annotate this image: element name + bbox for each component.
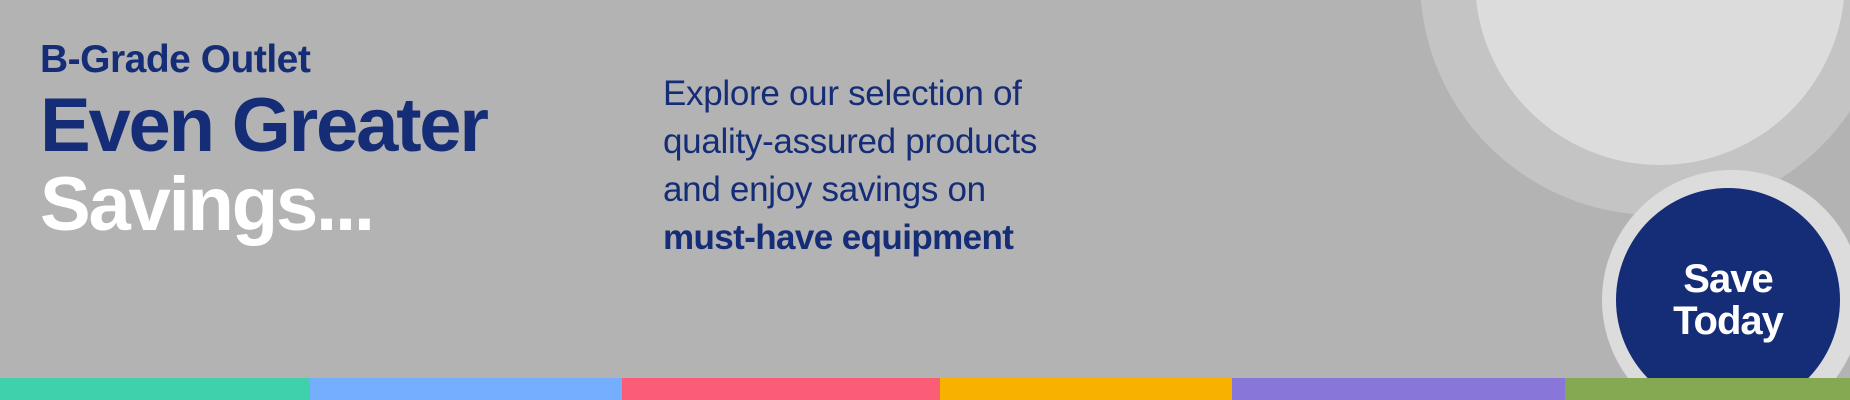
body-copy-emphasis: must-have equipment: [663, 214, 1183, 262]
color-strip: [0, 378, 1850, 400]
headline-block: B-Grade Outlet Even Greater Savings...: [40, 40, 660, 244]
decorative-ring-top-right: [1420, 0, 1850, 215]
body-copy-line: quality-assured products: [663, 118, 1183, 166]
headline-line-2: Savings...: [40, 166, 660, 244]
body-copy-block: Explore our selection of quality-assured…: [663, 70, 1183, 262]
color-strip-segment-teal: [0, 378, 310, 400]
headline-line-1: Even Greater: [40, 87, 660, 165]
body-copy-line: and enjoy savings on: [663, 166, 1183, 214]
promo-banner: B-Grade Outlet Even Greater Savings... E…: [0, 0, 1850, 400]
body-copy-line: Explore our selection of: [663, 70, 1183, 118]
color-strip-segment-light-blue: [310, 378, 622, 400]
save-badge-line-2: Today: [1673, 300, 1783, 342]
eyebrow-text: B-Grade Outlet: [40, 40, 660, 81]
save-badge-line-1: Save: [1683, 258, 1772, 300]
color-strip-segment-pink-red: [622, 378, 940, 400]
color-strip-segment-purple: [1232, 378, 1565, 400]
save-today-badge[interactable]: Save Today: [1616, 188, 1840, 400]
color-strip-segment-orange: [940, 378, 1232, 400]
color-strip-segment-olive-green: [1565, 378, 1850, 400]
decorative-circle-top-right: [1475, 0, 1845, 165]
